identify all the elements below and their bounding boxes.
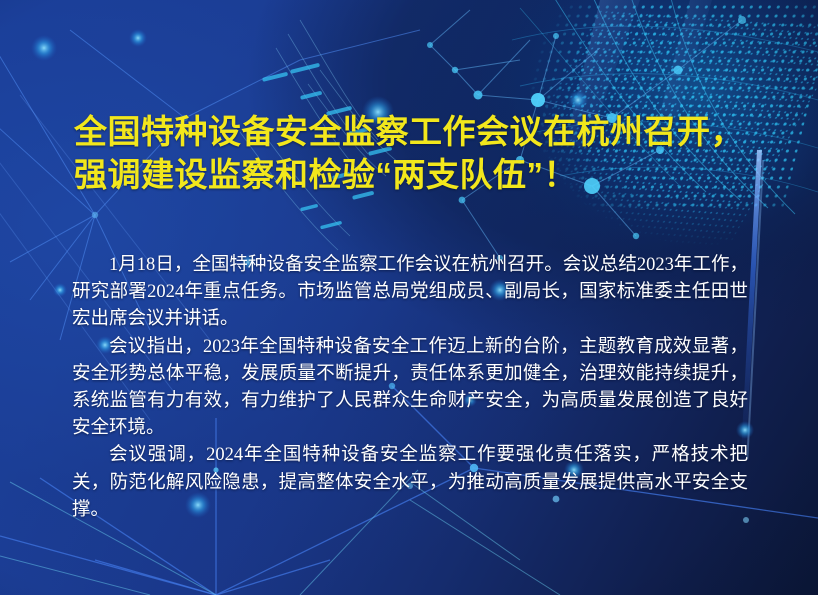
title-line-2: 强调建设监察和检验“两支队伍”！ (74, 153, 764, 196)
article-paragraph: 会议指出，2023年全国特种设备安全工作迈上新的台阶，主题教育成效显著，安全形势… (72, 334, 748, 443)
article-paragraph: 会议强调，2024年全国特种设备安全监察工作要强化责任落实，严格技术把关，防范化… (72, 442, 748, 524)
article-body: 1月18日，全国特种设备安全监察工作会议在杭州召开。会议总结2023年工作，研究… (72, 252, 748, 524)
page-title: 全国特种设备安全监察工作会议在杭州召开， 强调建设监察和检验“两支队伍”！ (74, 110, 764, 196)
title-line-1: 全国特种设备安全监察工作会议在杭州召开， (74, 110, 764, 153)
article-paragraph: 1月18日，全国特种设备安全监察工作会议在杭州召开。会议总结2023年工作，研究… (72, 252, 748, 334)
poster-canvas: 全国特种设备安全监察工作会议在杭州召开， 强调建设监察和检验“两支队伍”！ 1月… (0, 0, 818, 595)
